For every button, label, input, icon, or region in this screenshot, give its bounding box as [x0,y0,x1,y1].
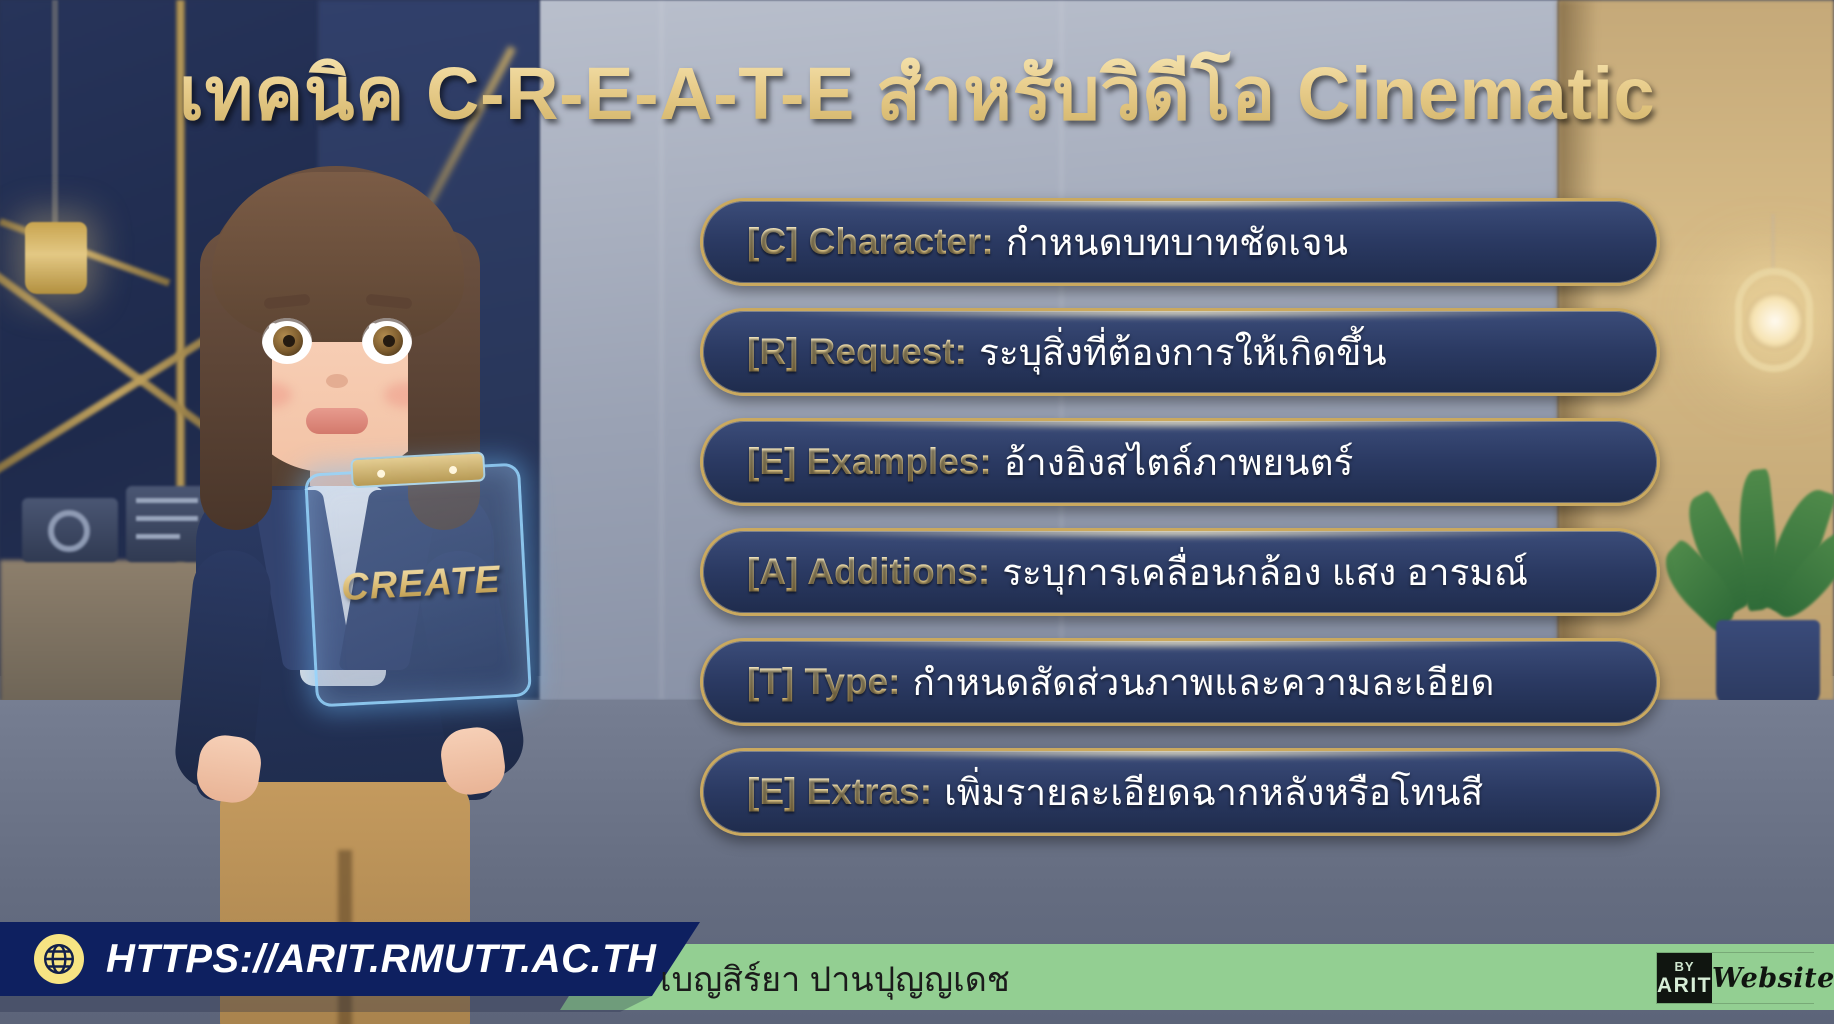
item-key: [T] Type: [747,661,900,703]
logo-badge: BY ARIT [1657,953,1712,1003]
eye-glint-right [369,323,378,332]
clipboard-word: CREATE [312,557,530,611]
nose [326,374,348,388]
item-description: กำหนดบทบาทชัดเจน [1006,213,1348,272]
list-item: [R] Request: ระบุสิ่งที่ต้องการให้เกิดขึ… [700,308,1660,396]
presenter-illustration: CREATE [150,150,630,1024]
wall-sconce-cord [1771,214,1775,272]
item-description: ระบุการเคลื่อนกล้อง แสง อารมณ์ [1002,543,1528,602]
clamp-dot [449,466,457,474]
list-item: [C] Character: กำหนดบทบาทชัดเจน [700,198,1660,286]
plant-pot [1716,620,1820,706]
website-url-text: HTTPS://ARIT.RMUTT.AC.TH [106,937,656,982]
item-key: [E] Examples: [747,441,992,483]
url-banner-shadow [0,996,700,1012]
infographic-canvas: เทคนิค C-R-E-A-T-E สำหรับวิดีโอ Cinemati… [0,0,1834,1024]
website-url-banner[interactable]: HTTPS://ARIT.RMUTT.AC.TH [0,922,700,996]
list-item: [T] Type: กำหนดสัดส่วนภาพและความละเอียด [700,638,1660,726]
wall-sconce-glow [1746,292,1804,350]
clamp-dot [377,470,385,478]
logo-website-text: Website [1712,963,1834,994]
desk-circle-detail [48,510,90,552]
eye-glint-left [269,323,278,332]
item-description: เพิ่มรายละเอียดฉากหลังหรือโทนสี [944,763,1483,822]
globe-icon [34,934,84,984]
pupil-left [283,335,295,347]
pendant-lamp-icon [25,222,87,294]
glowing-clipboard: CREATE [304,463,532,708]
page-title: เทคนิค C-R-E-A-T-E สำหรับวิดีโอ Cinemati… [0,34,1834,152]
author-name: เบญสิร์ยา ปานปุญญเดช [660,952,1010,1006]
item-description: อ้างอิงสไตล์ภาพยนตร์ [1004,433,1354,492]
logo-label: Website [1712,953,1834,1003]
item-key: [A] Additions: [747,551,990,593]
arit-website-logo: BY ARIT Website [1656,952,1814,1004]
item-description: กำหนดสัดส่วนภาพและความละเอียด [912,653,1494,712]
clipboard-clamp [350,451,485,488]
list-item: [E] Examples: อ้างอิงสไตล์ภาพยนตร์ [700,418,1660,506]
list-item: [A] Additions: ระบุการเคลื่อนกล้อง แสง อ… [700,528,1660,616]
item-key: [E] Extras: [747,771,932,813]
item-description: ระบุสิ่งที่ต้องการให้เกิดขึ้น [979,323,1387,382]
logo-by-text: BY [1674,960,1694,973]
item-key: [R] Request: [747,331,967,373]
mouth [306,408,368,434]
hair-fringe [212,172,464,342]
eye-left [262,318,312,364]
create-technique-list: [C] Character: กำหนดบทบาทชัดเจน [R] Requ… [700,198,1660,836]
iris-right [373,326,403,356]
logo-arit-text: ARIT [1657,975,1712,996]
item-key: [C] Character: [747,221,994,263]
pupil-right [383,335,395,347]
eye-right [362,318,412,364]
list-item: [E] Extras: เพิ่มรายละเอียดฉากหลังหรือโท… [700,748,1660,836]
iris-left [273,326,303,356]
